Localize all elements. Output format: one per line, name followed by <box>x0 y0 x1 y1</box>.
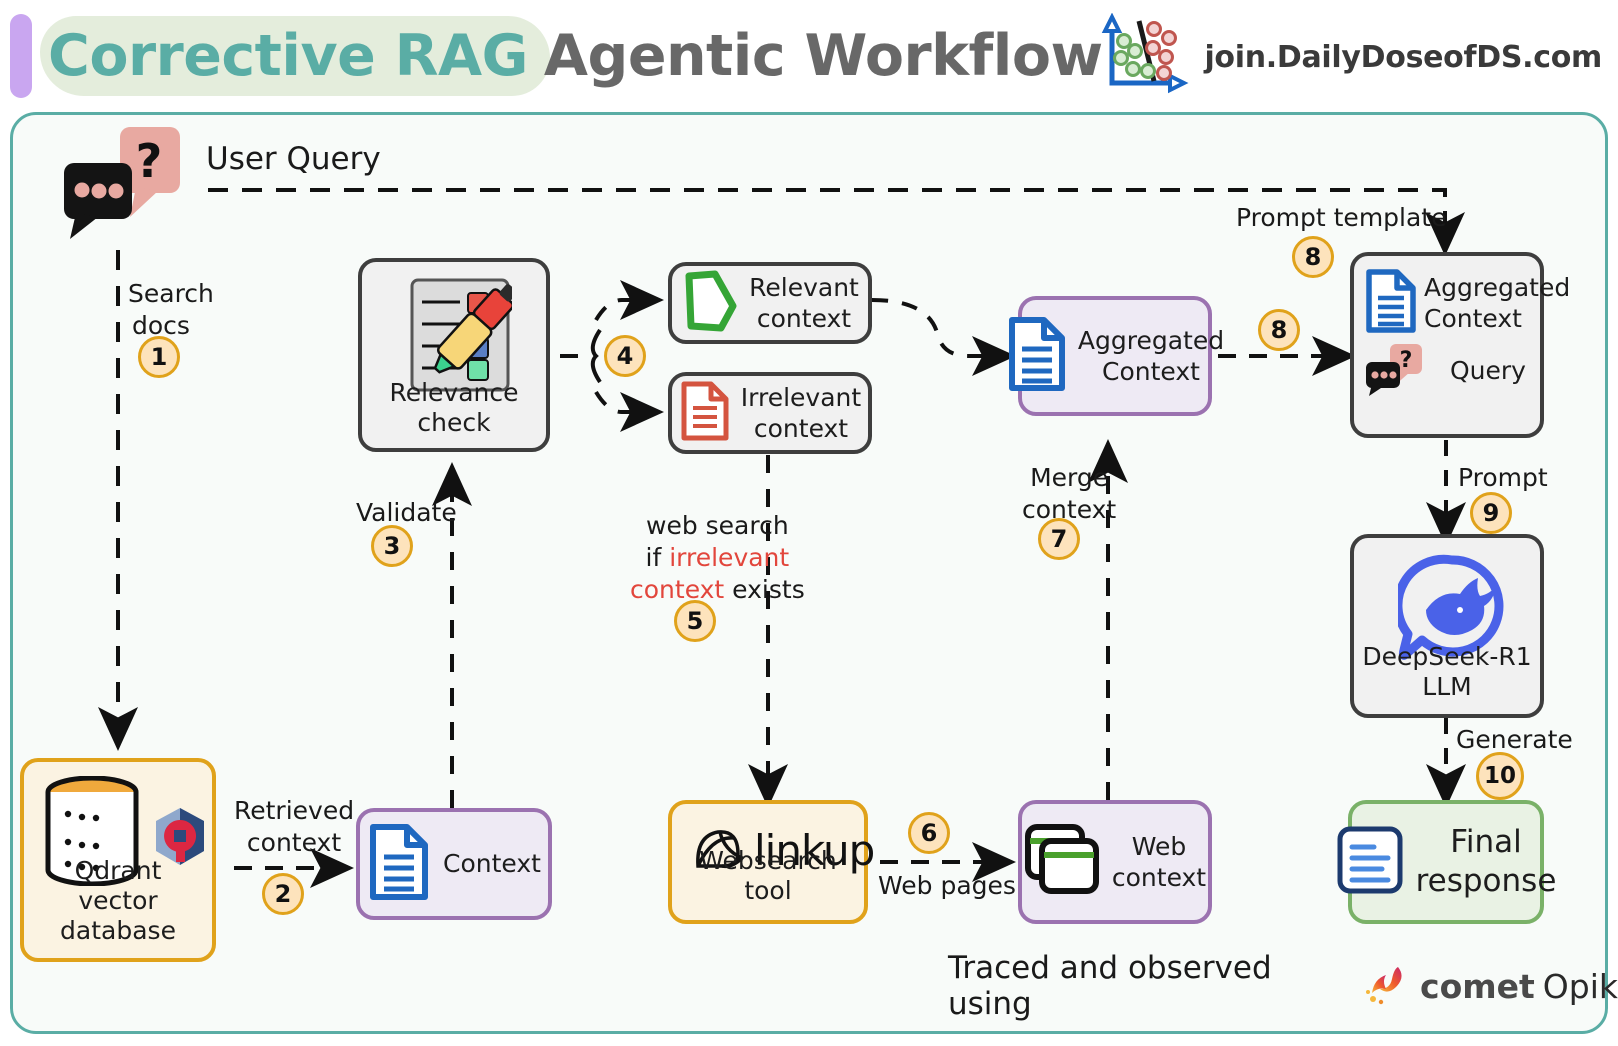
footer-text: Traced and observed using <box>948 950 1350 1022</box>
brand-url[interactable]: join.DailyDoseofDS.com <box>1204 40 1602 75</box>
badge-5: 5 <box>674 600 716 642</box>
brand-block[interactable]: join.DailyDoseofDS.com <box>1098 16 1602 98</box>
user-query-icon-group: ? <box>58 125 208 254</box>
badge-8b: 8 <box>1258 309 1300 351</box>
final-response-icon <box>1336 825 1404 899</box>
badge-8a: 8 <box>1292 236 1334 278</box>
title-rest-text: Agentic Workflow <box>544 23 1103 89</box>
page-title: Corrective RAG Agentic Workflow <box>48 16 1103 96</box>
edge-2-label: Retrievedcontext <box>234 795 354 859</box>
aggregated-document-icon-2 <box>1364 268 1418 338</box>
linkup-caption: Websearch tool <box>672 846 864 906</box>
badge-10: 10 <box>1476 752 1524 800</box>
svg-text:?: ? <box>136 134 163 188</box>
edge-5-label: web search if irrelevant context exists <box>630 510 805 606</box>
node-context[interactable]: Context <box>356 808 552 920</box>
edge-6-label: Web pages <box>878 870 1016 902</box>
node-relevance-check[interactable]: Relevance check <box>358 258 550 452</box>
badge-4: 4 <box>604 335 646 377</box>
web-context-label: Webcontext <box>1112 831 1206 894</box>
node-aggregated-context[interactable]: AggregatedContext <box>1018 296 1212 416</box>
document-icon <box>367 823 431 905</box>
edge-7-label: Mergecontext <box>1022 462 1116 526</box>
user-query-label: User Query <box>206 140 381 180</box>
badge-2: 2 <box>262 873 304 915</box>
context-label: Context <box>443 848 541 879</box>
agg-row-context: AggregatedContext <box>1354 256 1540 338</box>
badge-7: 7 <box>1038 518 1080 560</box>
relevant-context-label: Relevantcontext <box>749 272 859 335</box>
chat-query-icon: ? <box>1364 342 1426 400</box>
node-aggregated-context-query[interactable]: AggregatedContext ? Query <box>1350 252 1544 438</box>
relevant-document-icon <box>681 270 739 336</box>
deepseek-caption: DeepSeek-R1 LLM <box>1354 642 1540 702</box>
agg-query-label: Query <box>1450 355 1526 386</box>
irrelevant-context-label: Irrelevantcontext <box>741 382 861 445</box>
edge-9-label: Prompt <box>1458 462 1548 494</box>
node-relevant-context[interactable]: Relevantcontext <box>668 262 872 344</box>
badge-1: 1 <box>138 336 180 378</box>
badge-3: 3 <box>371 525 413 567</box>
header-accent-bar <box>10 14 32 98</box>
aggregated-context-label: AggregatedContext <box>1078 325 1224 388</box>
scatter-plot-logo-icon <box>1098 13 1190 101</box>
node-qdrant-vector-database[interactable]: Qdrantvector database <box>20 758 216 962</box>
agg-context-label: AggregatedContext <box>1424 272 1570 335</box>
edge-3-label: Validate <box>356 497 457 529</box>
relevance-check-caption: Relevance check <box>362 378 546 438</box>
title-highlight-text: Corrective RAG <box>48 23 528 89</box>
aggregated-document-icon <box>1006 316 1068 396</box>
comet-wordmark: comet <box>1420 967 1535 1006</box>
node-linkup-websearch-tool[interactable]: linkup Websearch tool <box>668 800 868 924</box>
agg-row-query: ? Query <box>1354 338 1540 400</box>
irrelevant-document-icon <box>679 380 731 446</box>
qdrant-caption: Qdrantvector database <box>24 856 212 946</box>
opik-wordmark: Opik <box>1543 967 1618 1006</box>
svg-text:?: ? <box>1400 348 1413 373</box>
badge-6: 6 <box>908 812 950 854</box>
final-response-label: Finalresponse <box>1416 823 1557 901</box>
node-deepseek-llm[interactable]: DeepSeek-R1 LLM <box>1350 534 1544 718</box>
node-web-context[interactable]: Webcontext <box>1018 800 1212 924</box>
node-irrelevant-context[interactable]: Irrelevantcontext <box>668 372 872 454</box>
edge-8-label: Prompt template <box>1236 202 1447 234</box>
edge-10-label: Generate <box>1456 724 1573 756</box>
edge-1-label: Searchdocs <box>128 278 214 342</box>
node-final-response[interactable]: Finalresponse <box>1348 800 1544 924</box>
browser-windows-icon <box>1024 823 1102 901</box>
comet-logo-icon <box>1362 961 1408 1011</box>
page-header: Corrective RAG Agentic Workflow <box>0 0 1618 112</box>
badge-9: 9 <box>1470 492 1512 534</box>
footer-attribution: Traced and observed using comet Opik <box>948 950 1618 1022</box>
